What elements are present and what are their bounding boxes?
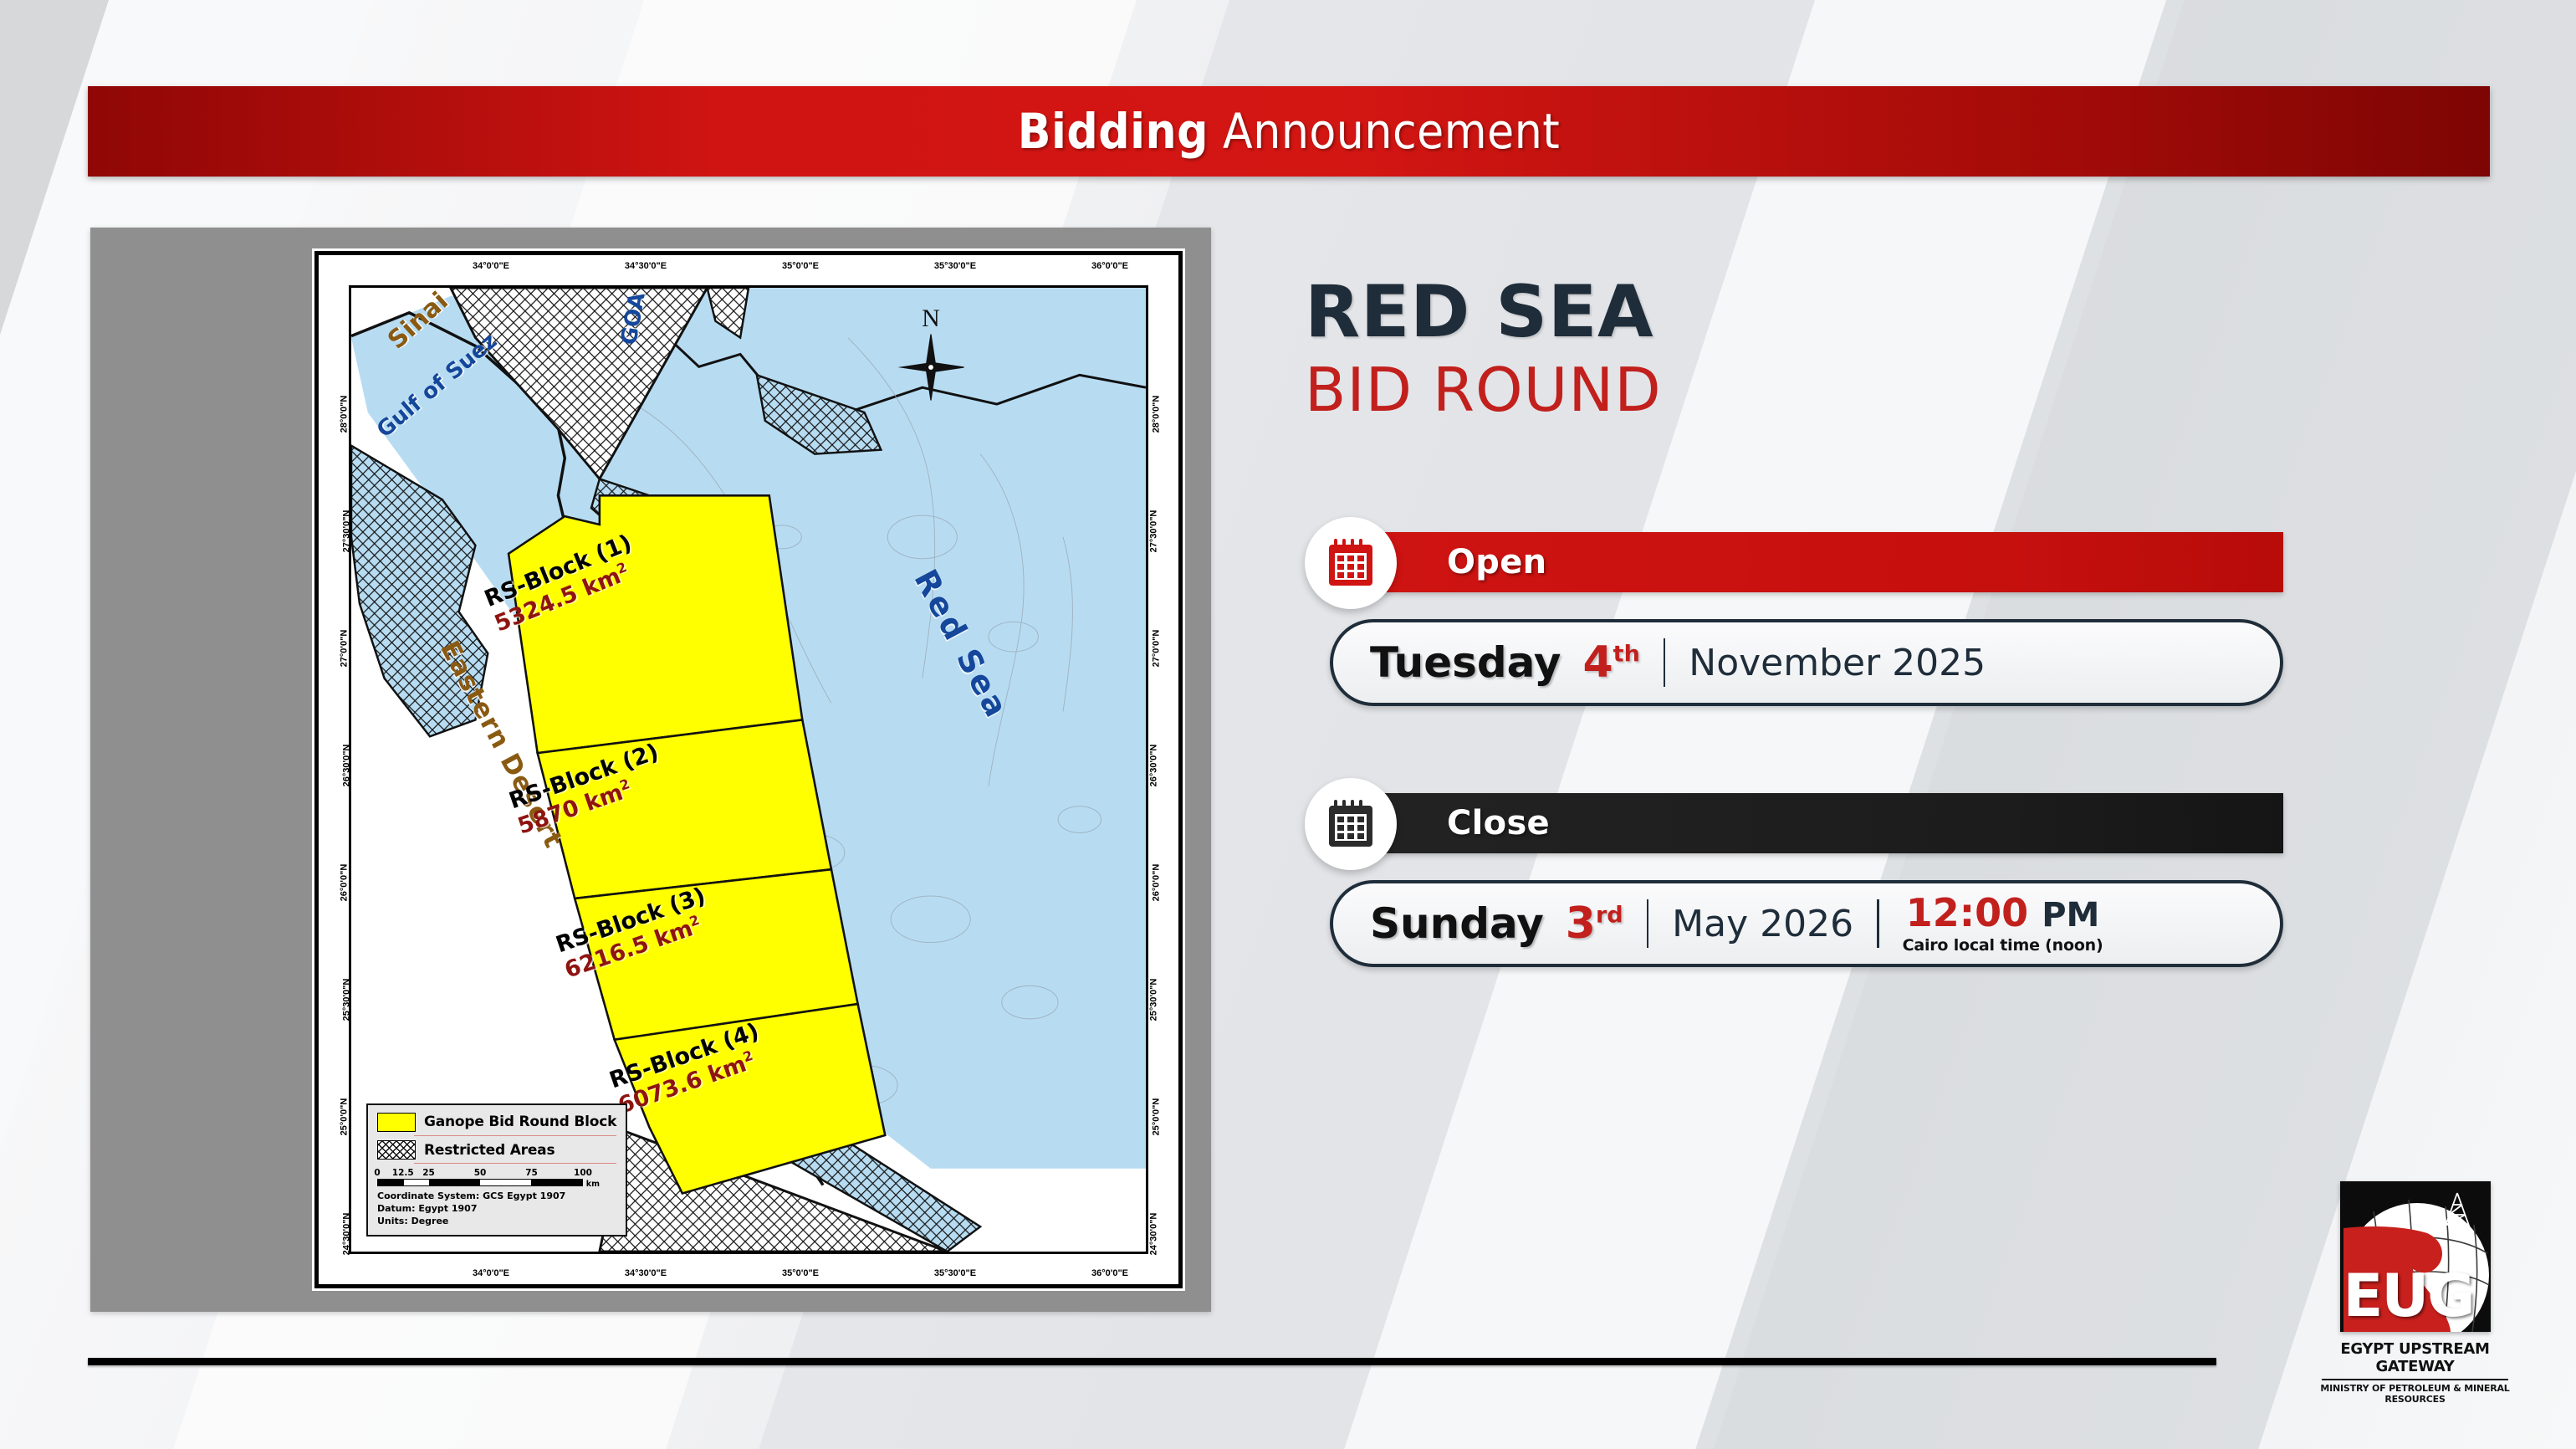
footer-divider	[88, 1358, 2216, 1365]
longitude-label: 36°0'0"E	[1091, 261, 1128, 271]
scale-unit: km	[586, 1180, 600, 1189]
scale-tick: 0	[374, 1168, 380, 1178]
longitude-label: 34°0'0"E	[473, 261, 509, 271]
coordinate-system: Coordinate System: GCS Egypt 1907	[377, 1190, 616, 1203]
legend-swatch-restricted	[377, 1140, 416, 1160]
close-date-pill: Sunday 3rd May 2026 12:00 PM Cairo local…	[1330, 880, 2283, 967]
open-day-number: 4th	[1582, 637, 1639, 688]
eug-logo: EUG EGYPT UPSTREAM GATEWAY MINISTRY OF P…	[2317, 1181, 2513, 1405]
legend-label-block: Ganope Bid Round Block	[424, 1114, 616, 1130]
close-status-bar: Close	[1330, 793, 2283, 853]
open-status-label: Open	[1447, 543, 1546, 581]
content-column: RED SEA BID ROUND Open Tuesday	[1305, 276, 2308, 1002]
longitude-label: 34°30'0"E	[625, 261, 667, 271]
latitude-label: 27°30'0"N	[1149, 510, 1159, 553]
longitude-label: 35°0'0"E	[782, 1268, 819, 1278]
open-date-group: Open Tuesday 4th November 2025	[1305, 532, 2308, 741]
map-scale-bar: 0 12.5 25 50 75 100 km	[377, 1168, 583, 1186]
scale-tick: 75	[525, 1168, 538, 1178]
open-date-pill: Tuesday 4th November 2025	[1330, 619, 2283, 706]
close-time-block: 12:00 PM Cairo local time (noon)	[1903, 893, 2103, 955]
page-title: Bidding Announcement	[1018, 103, 1561, 160]
longitude-label: 34°30'0"E	[625, 1268, 667, 1278]
longitude-label: 35°30'0"E	[934, 1268, 976, 1278]
logo-mark: EUG	[2340, 1181, 2491, 1332]
close-calendar-badge	[1305, 778, 1397, 870]
latitude-label: 27°0'0"N	[339, 630, 349, 668]
logo-org-name: EGYPT UPSTREAM GATEWAY	[2317, 1340, 2513, 1375]
close-status-label: Close	[1447, 804, 1550, 842]
north-arrow-icon	[895, 331, 967, 403]
open-calendar-badge	[1305, 517, 1397, 609]
open-weekday: Tuesday	[1370, 638, 1561, 687]
close-day-number: 3rd	[1566, 899, 1623, 949]
round-title: RED SEA	[1305, 276, 2308, 348]
logo-text: EUG	[2343, 1267, 2474, 1325]
header-banner: Bidding Announcement	[88, 86, 2490, 177]
latitude-label: 26°0'0"N	[1152, 864, 1162, 902]
latitude-label: 27°0'0"N	[1152, 630, 1162, 668]
close-date-group: Close Sunday 3rd May 2026	[1305, 793, 2308, 1002]
legend-row-restricted: Restricted Areas	[377, 1140, 616, 1160]
map-frame: 34°0'0"E 34°30'0"E 35°0'0"E 35°30'0"E 36…	[314, 251, 1183, 1288]
map-metadata: Coordinate System: GCS Egypt 1907 Datum:…	[377, 1190, 616, 1228]
map-canvas: Sinai Gulf of Suez GOA Red Sea Eastern D…	[349, 285, 1148, 1254]
header-title-bold: Bidding	[1018, 103, 1209, 160]
close-time: 12:00 PM	[1906, 893, 2100, 932]
map-legend: Ganope Bid Round Block Restricted Areas …	[366, 1103, 627, 1237]
latitude-label: 28°0'0"N	[1152, 396, 1162, 433]
legend-swatch-block	[377, 1113, 416, 1132]
scale-tick: 25	[422, 1168, 435, 1178]
longitude-label: 35°0'0"E	[782, 261, 819, 271]
latitude-label: 25°30'0"N	[1149, 979, 1159, 1021]
longitude-label: 34°0'0"E	[473, 1268, 509, 1278]
legend-label-restricted: Restricted Areas	[424, 1142, 555, 1159]
latitude-label: 26°30'0"N	[1149, 745, 1159, 787]
open-status-bar: Open	[1330, 532, 2283, 592]
north-label: N	[895, 306, 967, 331]
divider	[1664, 638, 1666, 687]
logo-ministry: MINISTRY OF PETROLEUM & MINERAL RESOURCE…	[2317, 1383, 2513, 1405]
round-subtitle: BID ROUND	[1305, 360, 2308, 420]
longitude-label: 35°30'0"E	[934, 261, 976, 271]
close-timezone-note: Cairo local time (noon)	[1903, 936, 2103, 955]
header-title-light: Announcement	[1209, 103, 1560, 160]
datum: Datum: Egypt 1907	[377, 1203, 616, 1216]
calendar-icon	[1327, 539, 1374, 587]
compass-rose: N	[895, 306, 967, 407]
close-weekday: Sunday	[1370, 899, 1544, 948]
scale-tick: 12.5	[392, 1168, 414, 1178]
open-month-year: November 2025	[1689, 642, 1986, 684]
divider	[1877, 899, 1879, 948]
latitude-label: 25°0'0"N	[339, 1098, 349, 1136]
latitude-label: 25°0'0"N	[1152, 1098, 1162, 1136]
latitude-label: 28°0'0"N	[339, 396, 349, 433]
scale-tick: 50	[474, 1168, 487, 1178]
map-panel: 34°0'0"E 34°30'0"E 35°0'0"E 35°30'0"E 36…	[90, 228, 1211, 1312]
legend-row-block: Ganope Bid Round Block	[377, 1113, 616, 1132]
longitude-label: 36°0'0"E	[1091, 1268, 1128, 1278]
divider	[1647, 899, 1649, 948]
close-month-year: May 2026	[1672, 903, 1853, 945]
latitude-label: 26°0'0"N	[339, 864, 349, 902]
scale-tick: 100	[574, 1168, 592, 1178]
units: Units: Degree	[377, 1216, 616, 1228]
calendar-icon	[1327, 800, 1374, 848]
latitude-label: 24°30'0"N	[1149, 1213, 1159, 1256]
